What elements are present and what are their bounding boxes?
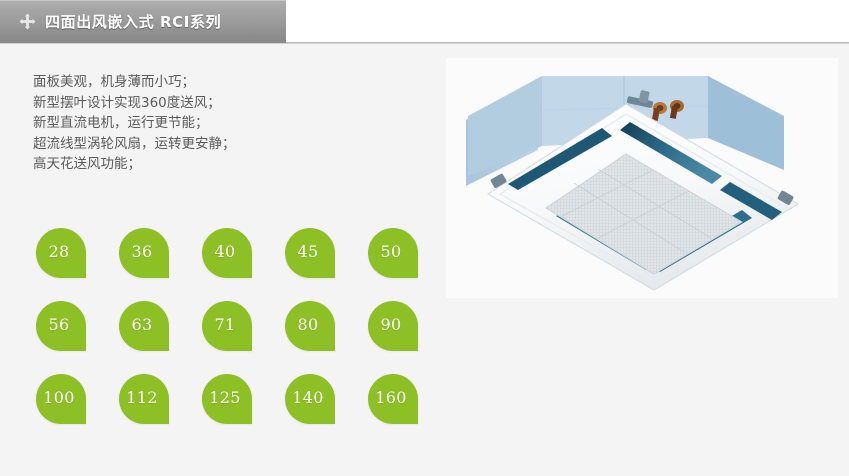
page-root: 四面出风嵌入式 RCI系列 面板美观，机身薄而小巧； 新型摆叶设计实现360度送… xyxy=(0,0,849,476)
capacity-badge[interactable]: 160 xyxy=(368,374,418,424)
capacity-badge[interactable]: 45 xyxy=(285,228,335,278)
badge-cell: 112 xyxy=(119,374,202,424)
capacity-badge-grid: 28 36 40 45 50 xyxy=(36,228,451,424)
capacity-badge-label: 40 xyxy=(215,242,236,261)
capacity-badge[interactable]: 50 xyxy=(368,228,418,278)
badge-row: 28 36 40 45 50 xyxy=(36,228,451,278)
badge-cell: 140 xyxy=(285,374,368,424)
capacity-badge[interactable]: 36 xyxy=(119,228,169,278)
capacity-badge-label: 90 xyxy=(381,315,402,334)
capacity-badge-label: 63 xyxy=(132,315,153,334)
capacity-badge[interactable]: 71 xyxy=(202,301,252,351)
header-title: 四面出风嵌入式 RCI系列 xyxy=(45,11,221,32)
badge-cell: 28 xyxy=(36,228,119,278)
badge-row: 100 112 125 140 160 xyxy=(36,374,451,424)
capacity-badge-label: 160 xyxy=(375,388,406,407)
badge-cell: 80 xyxy=(285,301,368,351)
capacity-badge-label: 28 xyxy=(49,242,70,261)
badge-cell: 56 xyxy=(36,301,119,351)
feature-item: 面板美观，机身薄而小巧； xyxy=(33,72,363,93)
header-tab[interactable]: 四面出风嵌入式 RCI系列 xyxy=(0,0,286,43)
product-image xyxy=(446,58,838,298)
badge-cell: 50 xyxy=(368,228,451,278)
capacity-badge[interactable]: 63 xyxy=(119,301,169,351)
feature-item: 高天花送风功能； xyxy=(33,154,363,175)
capacity-badge-label: 45 xyxy=(298,242,319,261)
capacity-badge[interactable]: 125 xyxy=(202,374,252,424)
badge-cell: 36 xyxy=(119,228,202,278)
capacity-badge-label: 71 xyxy=(215,315,236,334)
badge-cell: 160 xyxy=(368,374,451,424)
capacity-badge-label: 80 xyxy=(298,315,319,334)
capacity-badge[interactable]: 90 xyxy=(368,301,418,351)
badge-cell: 125 xyxy=(202,374,285,424)
badge-cell: 63 xyxy=(119,301,202,351)
feature-item: 超流线型涡轮风扇，运转更安静； xyxy=(33,134,363,155)
feature-list: 面板美观，机身薄而小巧； 新型摆叶设计实现360度送风； 新型直流电机，运行更节… xyxy=(33,72,363,175)
capacity-badge[interactable]: 100 xyxy=(36,374,86,424)
feature-item: 新型摆叶设计实现360度送风； xyxy=(33,93,363,114)
feature-item: 新型直流电机，运行更节能； xyxy=(33,113,363,134)
badge-cell: 45 xyxy=(285,228,368,278)
badge-row: 56 63 71 80 90 xyxy=(36,301,451,351)
capacity-badge[interactable]: 40 xyxy=(202,228,252,278)
capacity-badge[interactable]: 112 xyxy=(119,374,169,424)
capacity-badge-label: 112 xyxy=(126,388,157,407)
badge-cell: 71 xyxy=(202,301,285,351)
capacity-badge[interactable]: 140 xyxy=(285,374,335,424)
badge-cell: 40 xyxy=(202,228,285,278)
capacity-badge-label: 50 xyxy=(381,242,402,261)
capacity-badge[interactable]: 80 xyxy=(285,301,335,351)
capacity-badge[interactable]: 56 xyxy=(36,301,86,351)
capacity-badge[interactable]: 28 xyxy=(36,228,86,278)
capacity-badge-label: 56 xyxy=(49,315,70,334)
badge-cell: 100 xyxy=(36,374,119,424)
capacity-badge-label: 125 xyxy=(209,388,240,407)
badge-cell: 90 xyxy=(368,301,451,351)
move-four-arrows-icon xyxy=(19,13,36,30)
capacity-badge-label: 100 xyxy=(43,388,74,407)
capacity-badge-label: 140 xyxy=(292,388,323,407)
capacity-badge-label: 36 xyxy=(132,242,153,261)
